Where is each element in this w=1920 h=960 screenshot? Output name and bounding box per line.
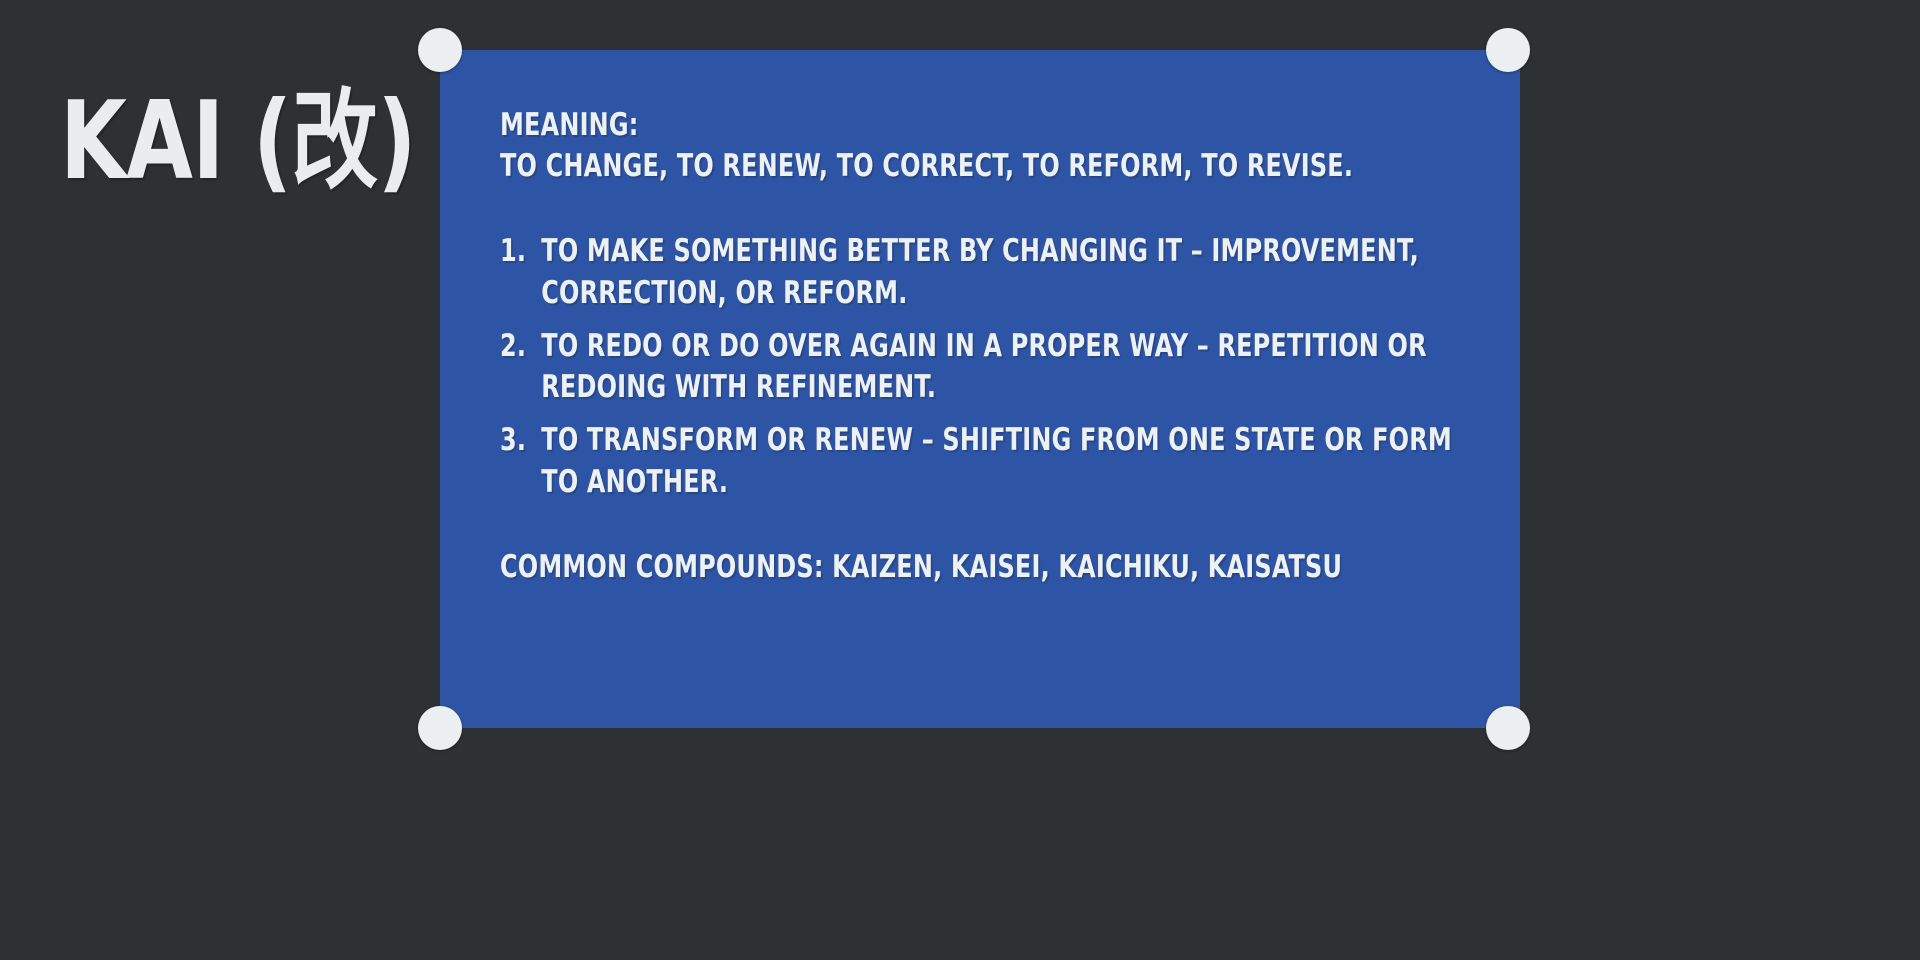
title-block: KAI (改) [60,62,440,222]
list-item-text: TO MAKE SOMETHING BETTER BY CHANGING IT … [541,231,1457,313]
list-item-number: 1. [500,231,526,272]
content-panel[interactable]: MEANING: TO CHANGE, TO RENEW, TO CORRECT… [440,50,1520,728]
meaning-block: MEANING: TO CHANGE, TO RENEW, TO CORRECT… [500,105,1458,187]
resize-handle-top-left[interactable] [418,28,462,72]
meaning-label: MEANING: [500,105,1458,146]
list-item-text: TO TRANSFORM OR RENEW – SHIFTING FROM ON… [541,420,1457,502]
list-item: 2. TO REDO OR DO OVER AGAIN IN A PROPER … [500,326,1458,408]
page-title: KAI (改) [60,88,416,196]
list-item: 3. TO TRANSFORM OR RENEW – SHIFTING FROM… [500,420,1458,502]
resize-handle-bottom-left[interactable] [418,706,462,750]
list-item-number: 2. [500,326,526,367]
list-item: 1. TO MAKE SOMETHING BETTER BY CHANGING … [500,231,1458,313]
slide-canvas: KAI (改) MEANING: TO CHANGE, TO RENEW, TO… [0,0,1920,960]
meaning-definition: TO CHANGE, TO RENEW, TO CORRECT, TO REFO… [500,146,1458,187]
definitions-list: 1. TO MAKE SOMETHING BETTER BY CHANGING … [500,231,1458,502]
list-item-number: 3. [500,420,526,461]
resize-handle-top-right[interactable] [1486,28,1530,72]
list-item-text: TO REDO OR DO OVER AGAIN IN A PROPER WAY… [541,326,1457,408]
resize-handle-bottom-right[interactable] [1486,706,1530,750]
common-compounds-line: COMMON COMPOUNDS: KAIZEN, KAISEI, KAICHI… [500,547,1458,588]
